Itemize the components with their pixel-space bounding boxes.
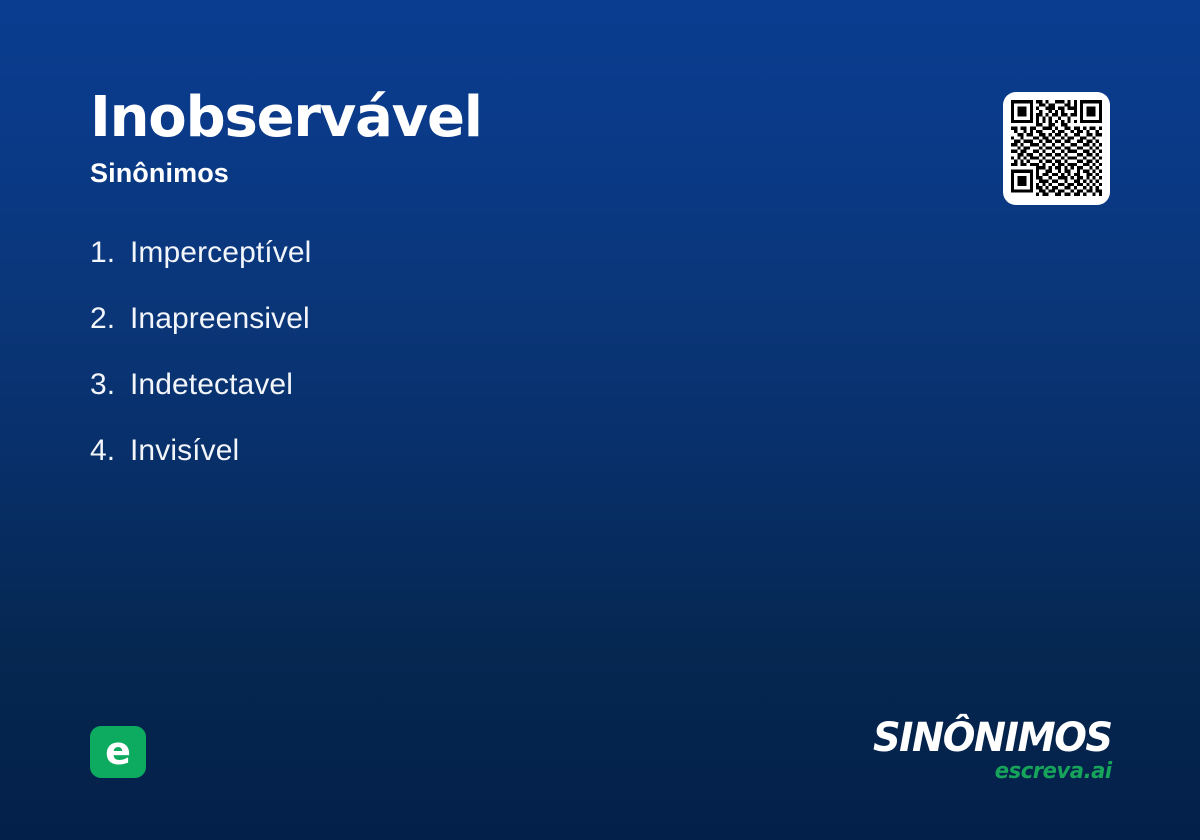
page-title: Inobservável [90, 88, 930, 148]
header: Inobservável Sinônimos [90, 88, 930, 189]
list-item-index: 1. [90, 238, 130, 268]
list-item: 3. Indetectavel [90, 370, 850, 436]
qr-code-card[interactable] [1003, 92, 1110, 205]
list-item-word: Indetectavel [130, 370, 293, 400]
sinonimos-wordmark[interactable]: SINÔNIMOS escreva.ai [863, 718, 1112, 783]
list-item-index: 2. [90, 304, 130, 334]
list-item-word: Imperceptível [130, 238, 311, 268]
wordmark-subtitle: escreva.ai [873, 761, 1112, 783]
escreva-logo-mark[interactable]: e [90, 726, 146, 778]
wordmark-title: SINÔNIMOS [873, 718, 1112, 758]
list-item: 2. Inapreensivel [90, 304, 850, 370]
list-item-index: 4. [90, 436, 130, 466]
brand-mark-letter: e [105, 732, 131, 770]
synonym-card: Inobservável Sinônimos 1. Imperceptível … [0, 0, 1200, 840]
category-label: Sinônimos [90, 159, 930, 189]
list-item-word: Inapreensivel [130, 304, 310, 334]
list-item-word: Invisível [130, 436, 239, 466]
list-item: 1. Imperceptível [90, 238, 850, 304]
synonyms-list: 1. Imperceptível 2. Inapreensivel 3. Ind… [90, 238, 850, 502]
list-item: 4. Invisível [90, 436, 850, 502]
qr-code-icon[interactable] [1011, 100, 1102, 196]
list-item-index: 3. [90, 370, 130, 400]
